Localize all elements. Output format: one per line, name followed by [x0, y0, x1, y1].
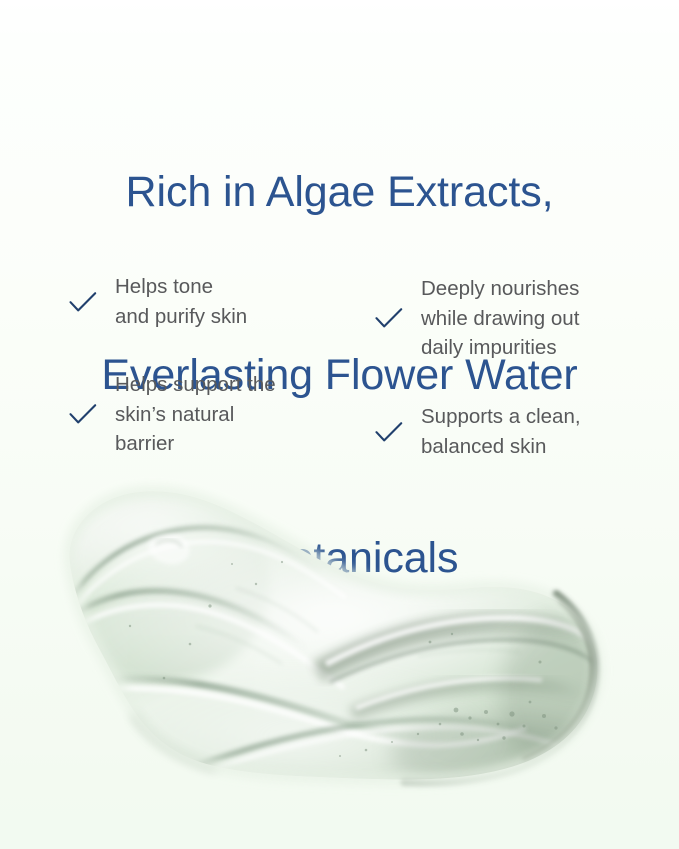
- product-benefits-panel: Rich in Algae Extracts, Everlasting Flow…: [0, 0, 679, 849]
- check-icon: [374, 419, 404, 445]
- benefits-column-left: Helps tone and purify skin Helps support…: [68, 262, 358, 472]
- gel-swatch-image: [0, 466, 679, 816]
- benefit-text: Helps tone and purify skin: [115, 272, 247, 331]
- page-title-line-1: Rich in Algae Extracts,: [0, 162, 679, 223]
- benefit-item: Supports a clean, balanced skin: [374, 402, 581, 461]
- benefit-item: Helps tone and purify skin: [68, 272, 247, 331]
- benefit-item: Helps support the skin’s natural barrier: [68, 370, 276, 459]
- check-icon: [374, 305, 404, 331]
- benefits-column-right: Deeply nourishes while drawing out daily…: [374, 262, 664, 472]
- benefit-text: Deeply nourishes while drawing out daily…: [421, 274, 579, 363]
- benefit-item: Deeply nourishes while drawing out daily…: [374, 274, 579, 363]
- benefits-list: Helps tone and purify skin Helps support…: [0, 262, 679, 472]
- check-icon: [68, 289, 98, 315]
- benefit-text: Supports a clean, balanced skin: [421, 402, 581, 461]
- benefit-text: Helps support the skin’s natural barrier: [115, 370, 276, 459]
- check-icon: [68, 401, 98, 427]
